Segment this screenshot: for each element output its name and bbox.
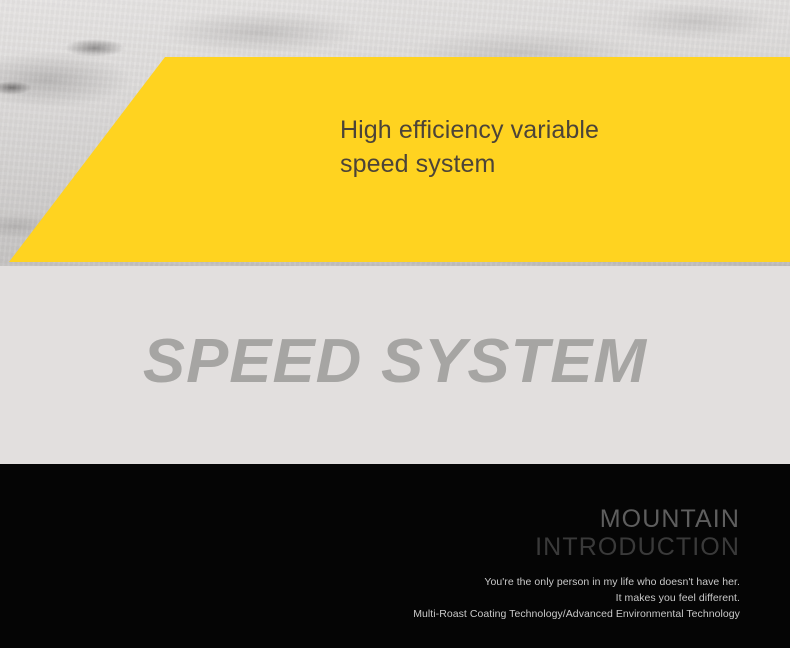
kicker-mountain: MOUNTAIN [100,505,740,533]
headline-text: High efficiency variable speed system [340,113,740,181]
product-banner: High efficiency variable speed system SP… [0,0,790,648]
fineprint-line-2: It makes you feel different. [100,591,740,607]
dark-panel: MOUNTAIN INTRODUCTION You're the only pe… [0,464,790,648]
dark-panel-content: MOUNTAIN INTRODUCTION You're the only pe… [100,505,740,623]
kicker-introduction: INTRODUCTION [100,533,740,561]
speed-system-wordmark: SPEED SYSTEM [0,331,790,393]
fineprint-line-1: You're the only person in my life who do… [100,575,740,591]
fineprint-block: You're the only person in my life who do… [100,575,740,623]
fineprint-line-3: Multi-Roast Coating Technology/Advanced … [100,607,740,623]
